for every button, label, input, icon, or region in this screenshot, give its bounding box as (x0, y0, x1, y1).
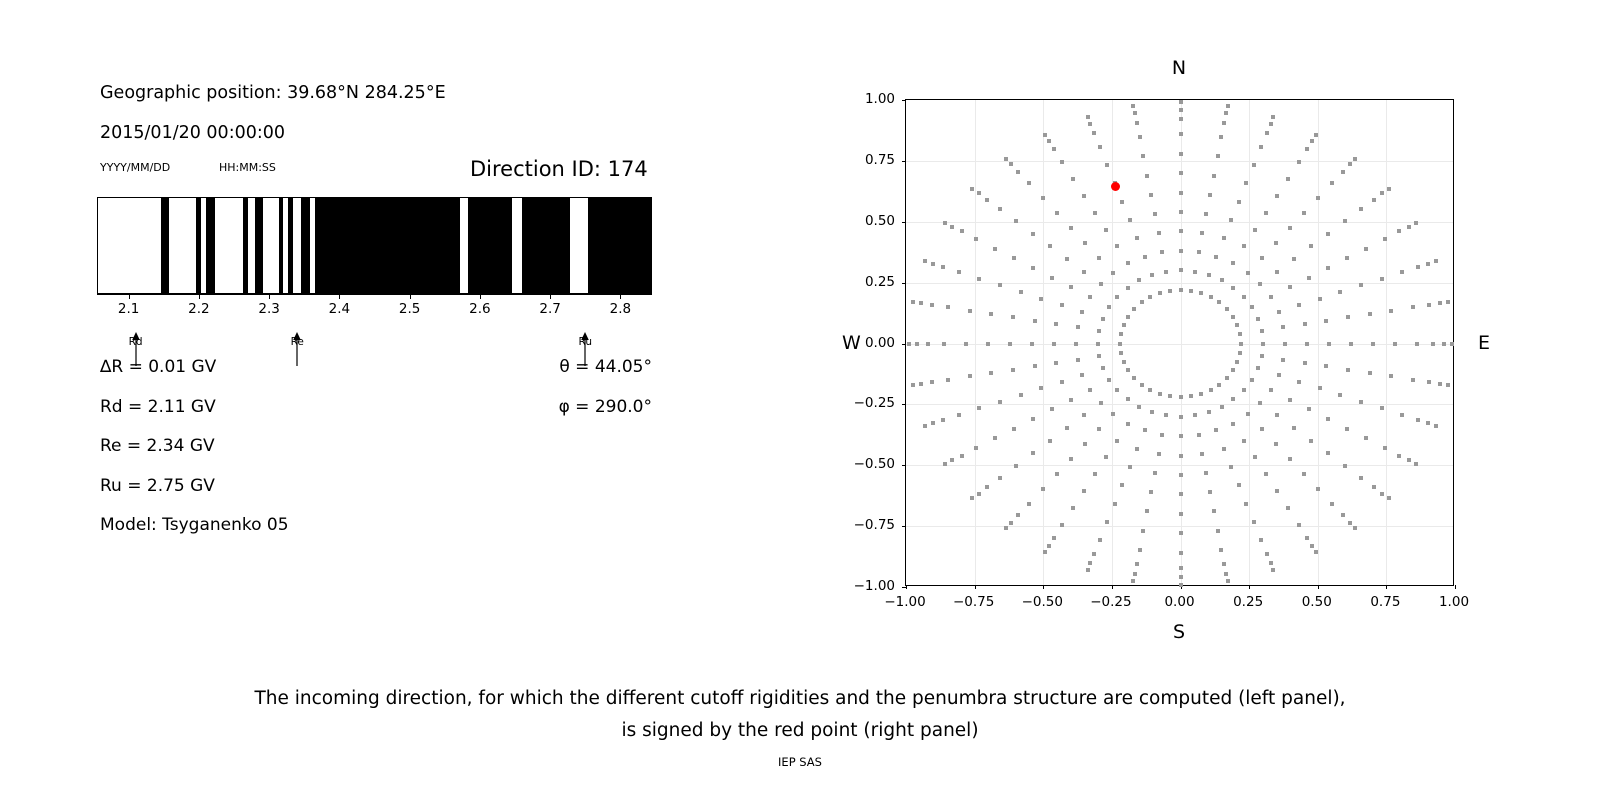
sky-direction-point (1092, 131, 1096, 135)
sky-direction-point (1288, 457, 1292, 461)
sky-direction-point (1150, 273, 1154, 277)
x-axis-tick (906, 585, 907, 589)
penumbra-axis-tick (339, 294, 340, 299)
sky-direction-point (1297, 380, 1301, 384)
sky-direction-point (1256, 366, 1260, 370)
sky-direction-point (1088, 122, 1092, 126)
y-axis-tick-label: 0.25 (865, 274, 895, 290)
sky-direction-point (985, 198, 989, 202)
sky-direction-point (1009, 162, 1013, 166)
sky-direction-point (931, 262, 935, 266)
sky-direction-point (1288, 226, 1292, 230)
sky-direction-point (1269, 561, 1273, 565)
sky-direction-point (1153, 471, 1157, 475)
sky-direction-point (1258, 401, 1262, 405)
sky-direction-point (1275, 194, 1279, 198)
sky-direction-point (1111, 412, 1115, 416)
sky-direction-point (941, 265, 945, 269)
compass-west-label: W (842, 332, 861, 354)
sky-direction-point (998, 207, 1002, 211)
sky-direction-point (1305, 536, 1309, 540)
sky-direction-point (1212, 174, 1216, 178)
sky-direction-point (1179, 191, 1183, 195)
sky-direction-point (1389, 309, 1393, 313)
sky-direction-point (1143, 255, 1147, 259)
sky-direction-point (1193, 413, 1197, 417)
sky-direction-point (1414, 221, 1418, 225)
penumbra-axis-tick-label: 2.4 (329, 301, 350, 317)
sky-direction-point (1305, 147, 1309, 151)
sky-direction-point (1324, 364, 1328, 368)
sky-direction-point (1256, 317, 1260, 321)
sky-direction-point (1341, 170, 1345, 174)
parameter-row: Re = 2.34 GV (100, 436, 215, 456)
sky-direction-point (1222, 121, 1226, 125)
sky-direction-point (1229, 218, 1233, 222)
sky-direction-point (1252, 163, 1256, 167)
x-axis-tick-label: 1.00 (1439, 594, 1469, 610)
sky-direction-point (1302, 211, 1306, 215)
x-axis-tick-label: −0.75 (953, 594, 994, 610)
sky-direction-point (907, 342, 911, 346)
sky-direction-point (1104, 228, 1108, 232)
sky-direction-point (960, 454, 964, 458)
sky-direction-point (1082, 194, 1086, 198)
sky-direction-point (1047, 139, 1051, 143)
sky-direction-point (1348, 162, 1352, 166)
sky-direction-point (1217, 300, 1221, 304)
sky-direction-point (1219, 135, 1223, 139)
sky-direction-point (1179, 108, 1183, 112)
sky-direction-point (1309, 439, 1313, 443)
sky-direction-point (1086, 568, 1090, 572)
sky-direction-point (970, 187, 974, 191)
sky-direction-point (1030, 342, 1034, 346)
sky-direction-point (943, 221, 947, 225)
sky-direction-point (1346, 368, 1350, 372)
sky-direction-point (1353, 157, 1357, 161)
sky-direction-point (1098, 538, 1102, 542)
sky-direction-point (950, 225, 954, 229)
caption-line-2: is signed by the red point (right panel) (0, 715, 1600, 747)
sky-direction-point (1271, 115, 1275, 119)
y-axis-tick (902, 283, 906, 284)
geographic-position-label: Geographic position: 39.68°N 284.25°E (100, 83, 446, 103)
sky-direction-point (1281, 358, 1285, 362)
penumbra-forbidden-band (161, 198, 169, 293)
sky-direction-point (1179, 531, 1183, 535)
sky-direction-point (1259, 538, 1263, 542)
sky-direction-point (943, 462, 947, 466)
sky-direction-point (1060, 380, 1064, 384)
sky-direction-point (1135, 562, 1139, 566)
sky-direction-point (1098, 145, 1102, 149)
sky-direction-point (1101, 317, 1105, 321)
sky-direction-point (1160, 250, 1164, 254)
sky-direction-point (1372, 198, 1376, 202)
selected-direction-marker[interactable] (1111, 182, 1120, 191)
sky-direction-point (1093, 472, 1097, 476)
sky-direction-point (1310, 139, 1314, 143)
sky-direction-point (1431, 342, 1435, 346)
sky-direction-point (1031, 266, 1035, 270)
sky-direction-point (1135, 447, 1139, 451)
y-axis-tick-label: −1.00 (854, 578, 895, 594)
sky-direction-point (1297, 303, 1301, 307)
sky-direction-point (1115, 244, 1119, 248)
sky-direction-point (1326, 417, 1330, 421)
y-axis-tick (902, 526, 906, 527)
sky-direction-point (1222, 236, 1226, 240)
sky-direction-point (1027, 181, 1031, 185)
sky-direction-point (968, 374, 972, 378)
grid-line-vertical (1386, 100, 1387, 585)
sky-direction-point (1269, 388, 1273, 392)
sky-direction-point (1297, 523, 1301, 527)
grid-line-horizontal (906, 283, 1453, 284)
y-axis-tick (902, 404, 906, 405)
sky-direction-point (1442, 342, 1446, 346)
penumbra-forbidden-band (288, 198, 293, 293)
sky-direction-point (1011, 368, 1015, 372)
sky-direction-point (1345, 427, 1349, 431)
sky-direction-point (1427, 380, 1431, 384)
sky-direction-point (1446, 383, 1450, 387)
sky-direction-point (1119, 351, 1123, 355)
sky-direction-point (1416, 265, 1420, 269)
sky-direction-point (1138, 135, 1142, 139)
penumbra-axis-tick-label: 2.5 (399, 301, 420, 317)
sky-direction-point (1208, 193, 1212, 197)
sky-direction-point (1216, 529, 1220, 533)
sky-direction-point (1207, 410, 1211, 414)
sky-direction-point (1368, 371, 1372, 375)
sky-direction-point (1242, 244, 1246, 248)
sky-direction-point (1229, 465, 1233, 469)
penumbra-axis-tick (199, 294, 200, 299)
sky-direction-point (1115, 388, 1119, 392)
sky-direction-point (1179, 117, 1183, 121)
sky-direction-point (1179, 583, 1183, 587)
sky-direction-point (1041, 487, 1045, 491)
sky-direction-point (1157, 452, 1161, 456)
y-axis-tick (902, 465, 906, 466)
sky-direction-point (1265, 131, 1269, 135)
sky-direction-point (1242, 439, 1246, 443)
sky-direction-point (1193, 270, 1197, 274)
penumbra-axis-tick-label: 2.6 (469, 301, 490, 317)
sky-direction-point (1080, 373, 1084, 377)
sky-direction-point (1380, 492, 1384, 496)
sky-direction-point (977, 277, 981, 281)
sky-direction-point (1150, 410, 1154, 414)
sky-direction-point (1292, 257, 1296, 261)
sky-direction-point (930, 380, 934, 384)
sky-direction-point (1200, 452, 1204, 456)
sky-direction-point (1014, 464, 1018, 468)
sky-direction-point (1303, 361, 1307, 365)
sky-direction-point (1076, 325, 1080, 329)
sky-direction-point (1446, 300, 1450, 304)
sky-direction-point (1120, 483, 1124, 487)
sky-direction-point (1274, 442, 1278, 446)
penumbra-axis-tick-label: 2.7 (539, 301, 560, 317)
sky-direction-point (1135, 236, 1139, 240)
sky-direction-point (1016, 513, 1020, 517)
sky-direction-point (1277, 373, 1281, 377)
penumbra-forbidden-band (243, 198, 248, 293)
direction-id-label: Direction ID: 174 (470, 157, 648, 181)
sky-direction-point (1008, 342, 1012, 346)
sky-direction-point (1326, 451, 1330, 455)
sky-direction-point (1387, 496, 1391, 500)
sky-direction-point (1122, 323, 1126, 327)
sky-direction-point (1140, 383, 1144, 387)
sky-direction-point (1082, 270, 1086, 274)
sky-direction-point (1131, 579, 1135, 583)
sky-direction-point (1054, 322, 1058, 326)
sky-direction-point (1148, 388, 1152, 392)
sky-direction-point (1083, 241, 1087, 245)
sky-direction-point (1050, 276, 1054, 280)
sky-direction-point (1145, 509, 1149, 513)
sky-direction-point (1179, 100, 1183, 104)
sky-direction-point (1217, 383, 1221, 387)
sky-direction-point (1060, 303, 1064, 307)
sky-direction-point (1141, 154, 1145, 158)
sky-direction-point (1179, 551, 1183, 555)
y-axis-tick-label: 0.00 (865, 335, 895, 351)
sky-direction-point (930, 303, 934, 307)
sky-direction-point (1179, 288, 1183, 292)
sky-direction-point (957, 413, 961, 417)
sky-direction-point (1380, 406, 1384, 410)
x-axis-tick (1455, 585, 1456, 589)
y-axis-tick-label: −0.75 (854, 517, 895, 533)
sky-direction-point (1302, 472, 1306, 476)
sky-direction-point (1250, 305, 1254, 309)
sky-direction-point (960, 229, 964, 233)
sky-direction-point (1219, 548, 1223, 552)
sky-direction-point (1231, 315, 1235, 319)
sky-direction-point (1244, 502, 1248, 506)
sky-direction-point (1119, 332, 1123, 336)
y-axis-tick-label: −0.50 (854, 456, 895, 472)
sky-direction-point (926, 342, 930, 346)
sky-direction-point (1071, 506, 1075, 510)
sky-direction-point (923, 424, 927, 428)
sky-direction-point (998, 400, 1002, 404)
sky-direction-point (1383, 237, 1387, 241)
sky-direction-point (1222, 562, 1226, 566)
sky-direction-point (1140, 300, 1144, 304)
sky-direction-point (1179, 566, 1183, 570)
sky-direction-point (1126, 286, 1130, 290)
sky-direction-point (1434, 259, 1438, 263)
sky-direction-point (1400, 413, 1404, 417)
sky-direction-point (1438, 301, 1442, 305)
sky-direction-point (993, 247, 997, 251)
sky-direction-point (1316, 196, 1320, 200)
penumbra-axis-tick-label: 2.8 (610, 301, 631, 317)
grid-line-vertical (1249, 100, 1250, 585)
sky-direction-point (1168, 289, 1172, 293)
sky-direction-point (1226, 579, 1230, 583)
sky-direction-point (1214, 428, 1218, 432)
penumbra-axis-tick-label: 2.3 (258, 301, 279, 317)
sky-direction-point (1368, 312, 1372, 316)
penumbra-axis-tick-label: 2.1 (118, 301, 139, 317)
sky-direction-point (1105, 163, 1109, 167)
x-axis-tick-label: −1.00 (884, 594, 925, 610)
sky-direction-point (1164, 413, 1168, 417)
x-axis-tick-label: 0.50 (1302, 594, 1332, 610)
x-axis-tick (1318, 585, 1319, 589)
sky-direction-point (1264, 211, 1268, 215)
sky-direction-point (1231, 397, 1235, 401)
sky-direction-point (1397, 454, 1401, 458)
x-axis-tick (1249, 585, 1250, 589)
sky-direction-point (1237, 483, 1241, 487)
sky-direction-point (1069, 285, 1073, 289)
sky-direction-point (1149, 490, 1153, 494)
penumbra-forbidden-band (301, 198, 310, 293)
sky-direction-point (1031, 451, 1035, 455)
sky-direction-point (1012, 427, 1016, 431)
sky-direction-point (1031, 232, 1035, 236)
sky-direction-point (1253, 228, 1257, 232)
y-axis-tick (902, 222, 906, 223)
grid-line-horizontal (906, 465, 1453, 466)
compass-east-label: E (1478, 332, 1490, 354)
sky-direction-point (1016, 170, 1020, 174)
sky-direction-point (1397, 229, 1401, 233)
sky-direction-point (1052, 147, 1056, 151)
sky-direction-point (1231, 422, 1235, 426)
x-axis-tick-label: 0.00 (1164, 594, 1194, 610)
sky-direction-point (1126, 315, 1130, 319)
penumbra-axis-tick (620, 294, 621, 299)
parameter-row: ∆R = 0.01 GV (100, 357, 216, 377)
penumbra-forbidden-band (279, 198, 283, 293)
grid-line-vertical (1043, 100, 1044, 585)
sky-direction-point (1179, 395, 1183, 399)
parameter-row: Model: Tsyganenko 05 (100, 515, 289, 535)
sky-direction-point (957, 270, 961, 274)
sky-direction-point (1341, 513, 1345, 517)
sky-direction-point (977, 492, 981, 496)
sky-direction-point (1076, 358, 1080, 362)
sky-direction-point (1197, 433, 1201, 437)
sky-direction-point (1277, 310, 1281, 314)
sky-direction-point (1318, 297, 1322, 301)
sky-direction-point (1133, 111, 1137, 115)
date-format-hint: YYYY/MM/DD (100, 161, 170, 174)
sky-direction-point (1043, 550, 1047, 554)
parameter-row: Ru = 2.75 GV (100, 476, 215, 496)
sky-direction-point (1359, 283, 1363, 287)
sky-direction-point (1055, 211, 1059, 215)
sky-direction-point (1047, 544, 1051, 548)
sky-direction-point (1145, 174, 1149, 178)
sky-direction-point (1380, 191, 1384, 195)
sky-direction-point (1060, 523, 1064, 527)
sky-direction-point (1097, 427, 1101, 431)
penumbra-forbidden-band (468, 198, 512, 293)
sky-direction-point (1212, 509, 1216, 513)
sky-direction-point (1041, 196, 1045, 200)
penumbra-axis-tick (410, 294, 411, 299)
sky-direction-point (1179, 415, 1183, 419)
penumbra-axis: 2.12.22.32.42.52.62.72.8RdReRu (97, 294, 652, 304)
penumbra-bar-wrap (97, 197, 652, 294)
sky-direction-point (1326, 266, 1330, 270)
y-axis-tick (902, 100, 906, 101)
sky-direction-point (1371, 342, 1375, 346)
sky-direction-point (1132, 376, 1136, 380)
sky-direction-point (1179, 268, 1183, 272)
sky-direction-point (1359, 400, 1363, 404)
rigidity-marker-label-ru: Ru (579, 336, 592, 348)
sky-direction-point (1407, 458, 1411, 462)
sky-direction-point (1260, 256, 1264, 260)
sky-direction-point (1132, 307, 1136, 311)
sky-direction-point (1031, 417, 1035, 421)
sky-direction-point (923, 259, 927, 263)
sky-direction-point (1407, 225, 1411, 229)
sky-direction-point (1149, 193, 1153, 197)
sky-direction-point (1179, 132, 1183, 136)
sky-direction-point (1238, 332, 1242, 336)
sky-direction-point (1271, 568, 1275, 572)
sky-direction-point (1225, 376, 1229, 380)
sky-direction-point (1088, 561, 1092, 565)
sky-direction-point (1097, 329, 1101, 333)
sky-direction-point (1069, 226, 1073, 230)
sky-direction-point (1179, 575, 1183, 579)
x-axis-tick (1043, 585, 1044, 589)
sky-direction-point (970, 496, 974, 500)
y-axis-tick-label: 0.75 (865, 152, 895, 168)
sky-direction-point (1426, 421, 1430, 425)
sky-direction-point (1275, 270, 1279, 274)
sky-direction-point (1288, 398, 1292, 402)
sky-direction-point (989, 312, 993, 316)
x-axis-tick-label: −0.25 (1090, 594, 1131, 610)
sky-direction-point (1179, 171, 1183, 175)
sky-direction-point (1199, 392, 1203, 396)
sky-direction-point (1411, 378, 1415, 382)
penumbra-forbidden-band (315, 198, 368, 293)
sky-direction-point (1148, 295, 1152, 299)
figure-caption: The incoming direction, for which the di… (0, 683, 1600, 747)
sky-direction-point (1111, 271, 1115, 275)
sky-direction-point (1269, 295, 1273, 299)
sky-direction-point (1264, 472, 1268, 476)
y-axis-tick-label: 1.00 (865, 91, 895, 107)
sky-direction-point (1415, 342, 1419, 346)
sky-direction-point (1372, 485, 1376, 489)
x-axis-tick-label: 0.25 (1233, 594, 1263, 610)
sky-direction-point (1265, 552, 1269, 556)
caption-line-1: The incoming direction, for which the di… (0, 683, 1600, 715)
sky-map-plot-area (905, 99, 1454, 586)
sky-direction-point (989, 371, 993, 375)
sky-direction-point (1286, 506, 1290, 510)
sky-direction-point (993, 436, 997, 440)
sky-direction-point (911, 300, 915, 304)
penumbra-axis-tick (480, 294, 481, 299)
